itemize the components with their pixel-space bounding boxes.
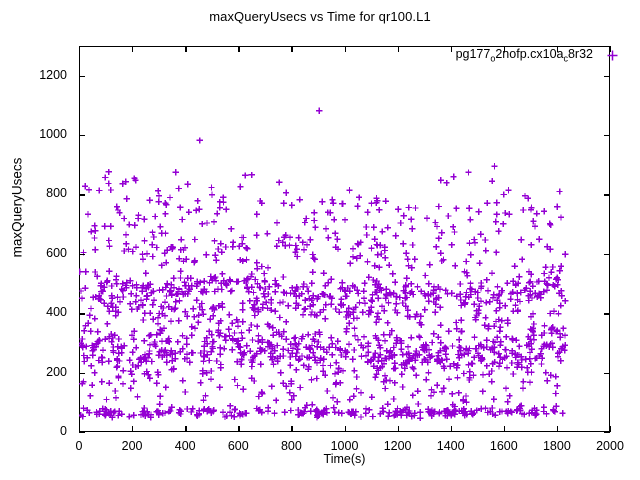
y-tick-mark — [604, 432, 610, 433]
x-tick-label: 0 — [49, 439, 109, 453]
y-tick-mark — [79, 76, 85, 77]
x-tick-label: 200 — [102, 439, 162, 453]
x-tick-mark — [291, 426, 292, 432]
y-tick-mark — [604, 135, 610, 136]
x-tick-label: 1800 — [527, 439, 587, 453]
x-tick-mark — [132, 426, 133, 432]
legend-entry-label: pg177o2nofp.cx10ac8r32 — [456, 47, 593, 64]
x-tick-mark — [79, 46, 80, 52]
x-tick-label: 1600 — [474, 439, 534, 453]
y-tick-label: 1000 — [0, 127, 67, 141]
y-tick-mark — [79, 373, 85, 374]
y-tick-label: 200 — [0, 365, 67, 379]
x-tick-label: 2000 — [580, 439, 640, 453]
x-tick-mark — [345, 426, 346, 432]
x-tick-label: 1200 — [368, 439, 428, 453]
x-tick-mark — [185, 46, 186, 52]
x-tick-mark — [345, 46, 346, 52]
x-tick-mark — [238, 426, 239, 432]
x-tick-mark — [291, 46, 292, 52]
y-tick-mark — [604, 373, 610, 374]
x-tick-label: 400 — [155, 439, 215, 453]
x-tick-label: 1400 — [421, 439, 481, 453]
legend: pg177o2nofp.cx10ac8r32 — [456, 47, 618, 64]
x-tick-mark — [238, 46, 239, 52]
chart-canvas: maxQueryUsecs vs Time for qr100.L1 maxQu… — [0, 0, 640, 480]
y-tick-mark — [79, 313, 85, 314]
x-tick-mark — [185, 426, 186, 432]
y-tick-mark — [604, 313, 610, 314]
x-tick-mark — [398, 426, 399, 432]
x-axis-label: Time(s) — [79, 452, 610, 466]
x-tick-mark — [398, 46, 399, 52]
y-tick-label: 800 — [0, 186, 67, 200]
x-tick-label: 800 — [261, 439, 321, 453]
plot-frame — [79, 46, 610, 432]
y-tick-mark — [604, 254, 610, 255]
y-tick-mark — [79, 135, 85, 136]
x-tick-mark — [557, 426, 558, 432]
y-tick-label: 1200 — [0, 68, 67, 82]
y-tick-mark — [604, 76, 610, 77]
y-tick-mark — [604, 194, 610, 195]
x-tick-mark — [451, 426, 452, 432]
chart-title: maxQueryUsecs vs Time for qr100.L1 — [0, 9, 640, 24]
y-tick-label: 400 — [0, 305, 67, 319]
x-tick-mark — [451, 46, 452, 52]
y-tick-label: 0 — [0, 424, 67, 438]
x-tick-mark — [79, 426, 80, 432]
x-tick-mark — [132, 46, 133, 52]
x-tick-label: 1000 — [315, 439, 375, 453]
y-tick-mark — [79, 194, 85, 195]
x-tick-label: 600 — [208, 439, 268, 453]
x-tick-mark — [504, 426, 505, 432]
x-tick-mark — [610, 426, 611, 432]
legend-marker-plus-icon — [607, 50, 618, 61]
y-tick-mark — [79, 432, 85, 433]
y-tick-label: 600 — [0, 246, 67, 260]
y-tick-mark — [79, 254, 85, 255]
